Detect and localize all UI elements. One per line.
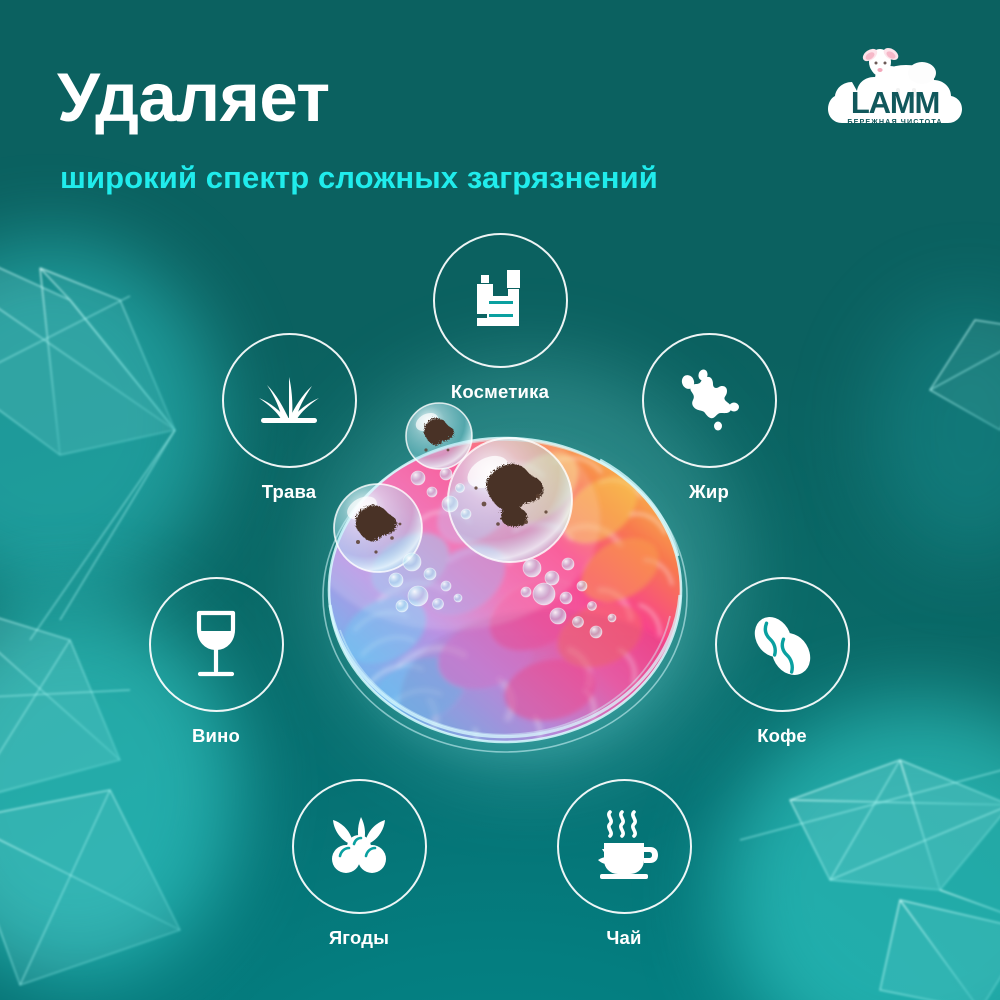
bubble-large — [448, 438, 572, 562]
logo-tagline: БЕРЕЖНАЯ ЧИСТОТА — [822, 117, 968, 126]
page-title: Удаляет — [57, 63, 330, 132]
fiber-disc-graphic — [300, 400, 730, 800]
feature-label: Ягоды — [284, 927, 434, 949]
page-subtitle: широкий спектр сложных загрязнений — [60, 160, 658, 196]
feature-ring — [433, 233, 568, 368]
bubble-small — [406, 403, 472, 469]
brand-logo: LAMM БЕРЕЖНАЯ ЧИСТОТА — [822, 44, 968, 142]
feature-label: Вино — [141, 725, 291, 747]
berries-icon — [321, 814, 397, 880]
poster-canvas: Удаляет широкий спектр сложных загрязнен… — [0, 0, 1000, 1000]
feature-label: Чай — [549, 927, 699, 949]
product-image — [300, 400, 730, 800]
cosmetics-bottles-icon — [463, 268, 537, 334]
wine-glass-icon — [187, 609, 245, 681]
logo-wordmark: LAMM — [822, 87, 968, 118]
